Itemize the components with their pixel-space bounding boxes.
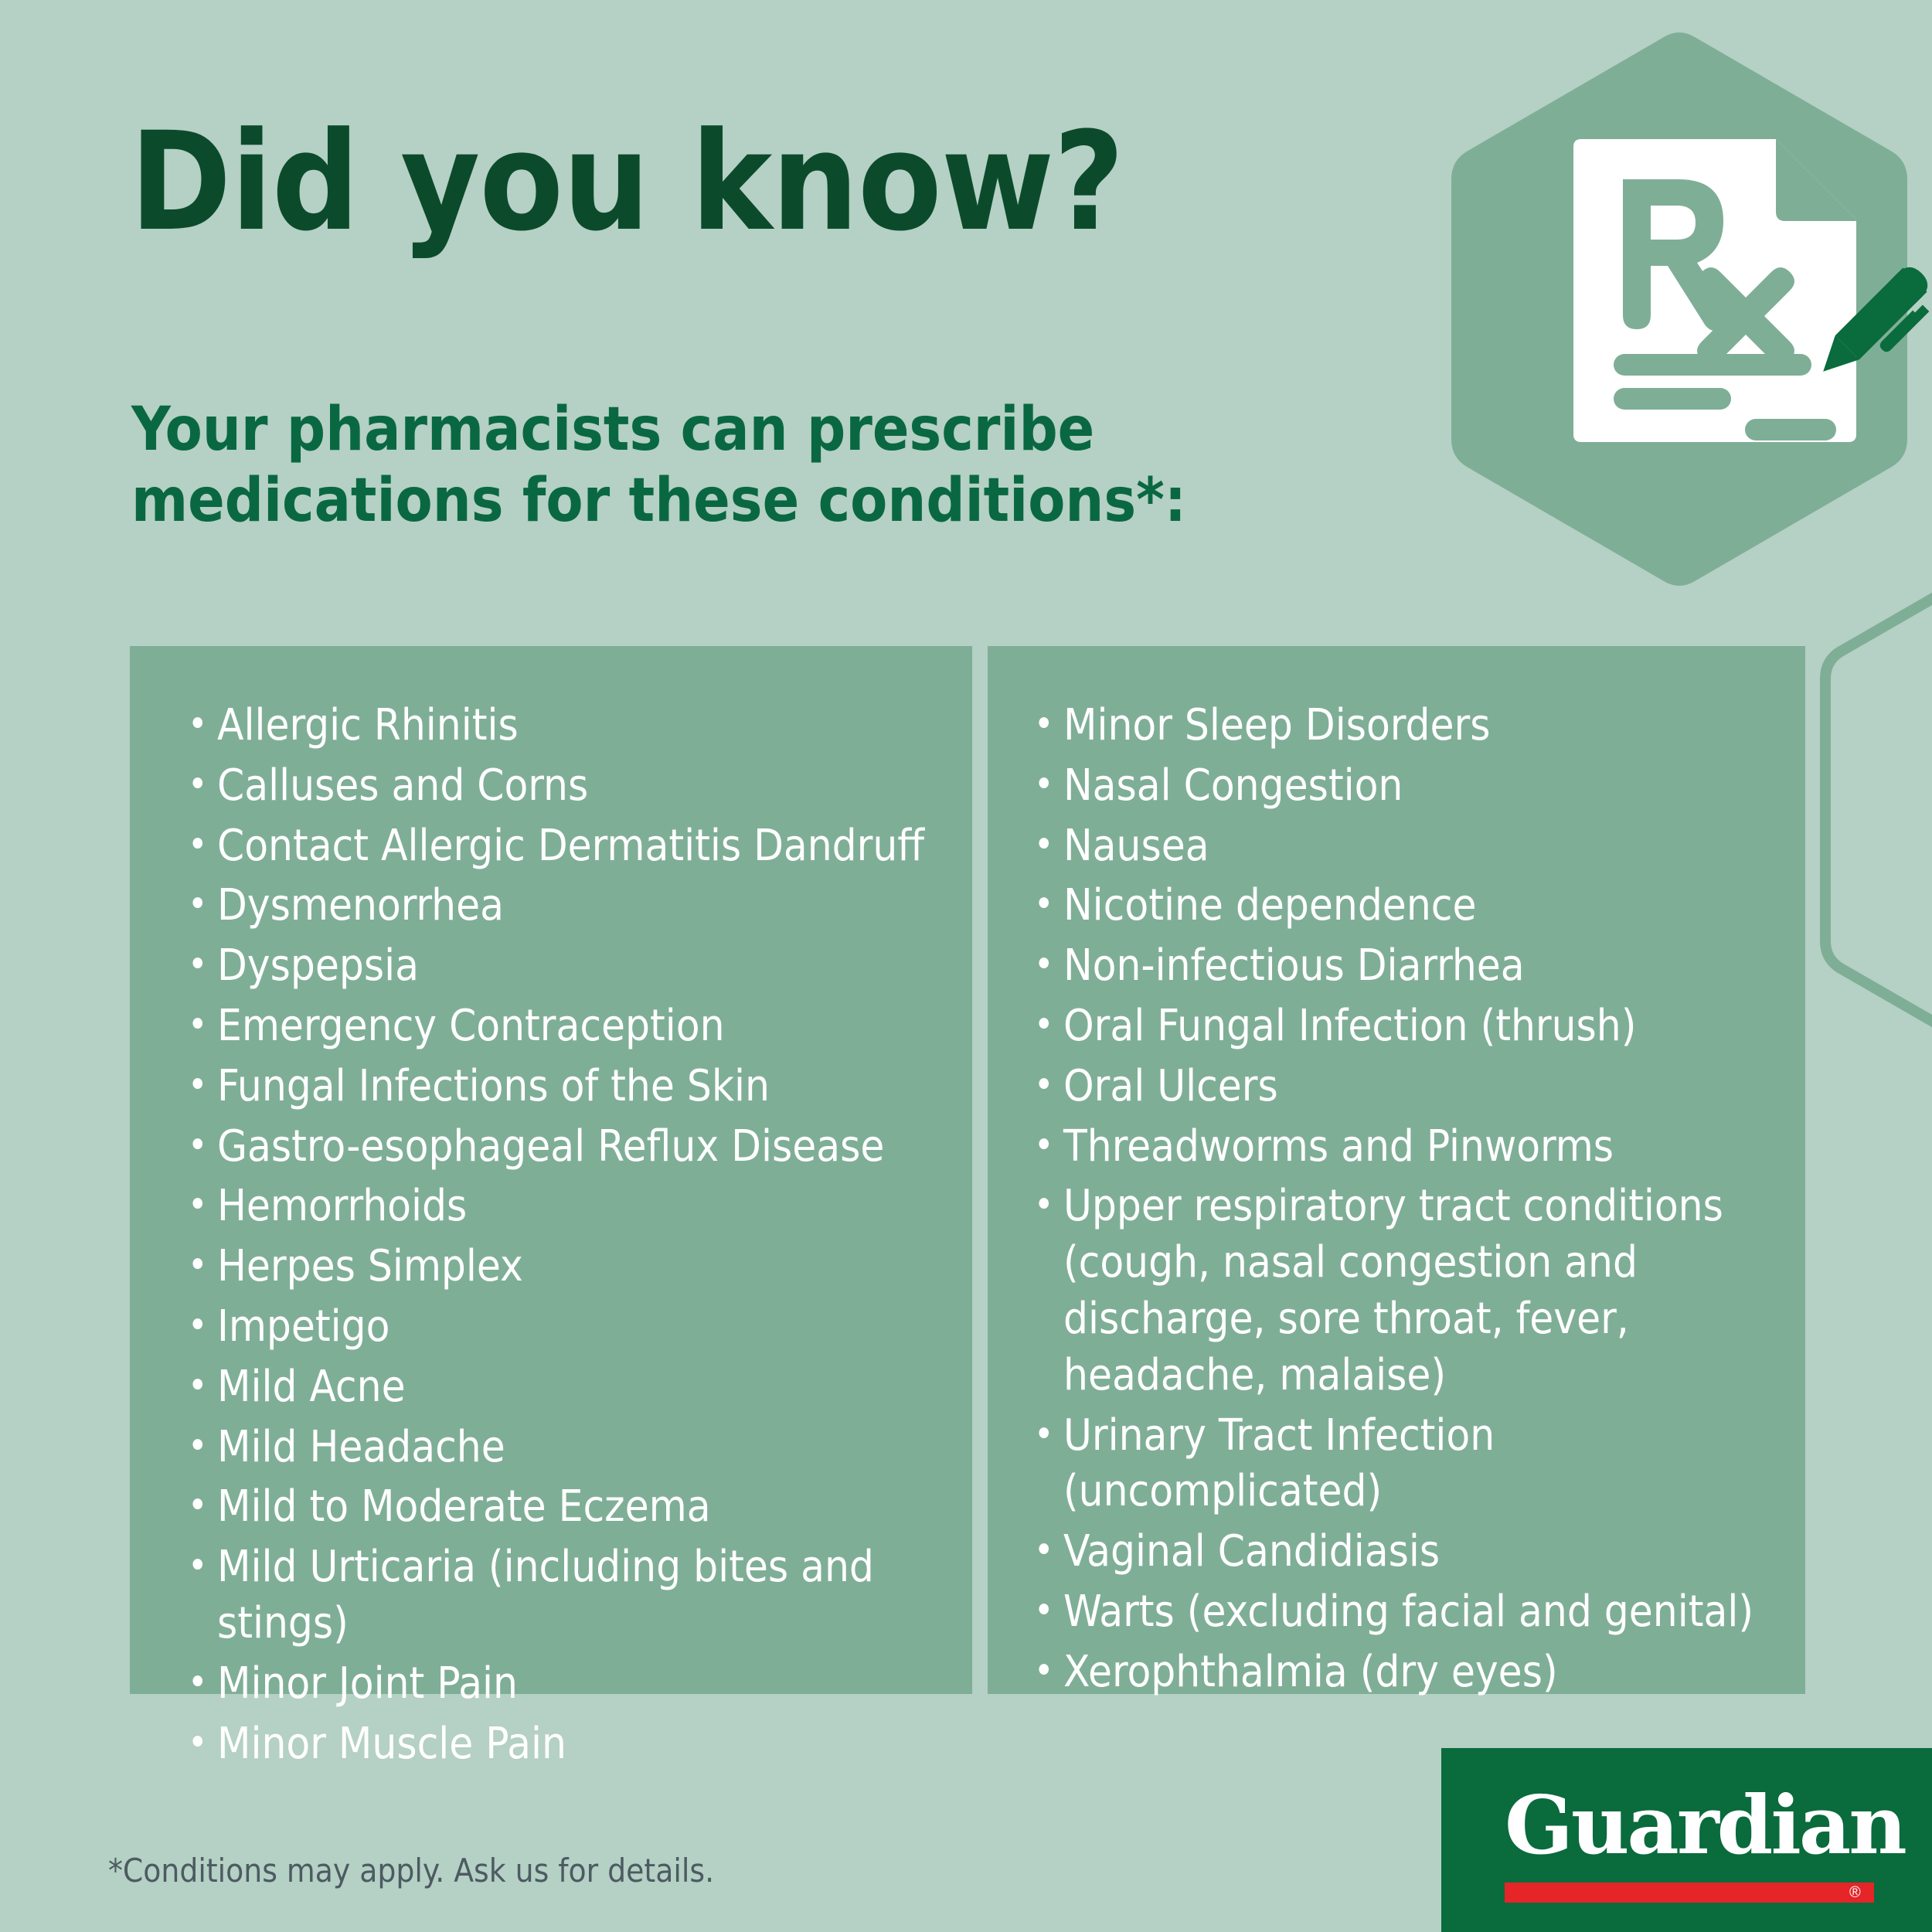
condition-list-item: Urinary Tract Infection (uncomplicated): [1034, 1408, 1790, 1521]
condition-list-item: Mild Urticaria (including bites and stin…: [188, 1539, 949, 1652]
condition-list-item: Nicotine dependence: [1034, 878, 1790, 934]
condition-list-item: Minor Joint Pain: [188, 1656, 949, 1713]
condition-list-item: Dyspepsia: [188, 938, 949, 995]
conditions-panel-left: Allergic RhinitisCalluses and CornsConta…: [130, 646, 972, 1694]
condition-list-item: Herpes Simplex: [188, 1239, 949, 1295]
condition-list-item: Warts (excluding facial and genital): [1034, 1584, 1790, 1641]
document-line-1: [1614, 354, 1811, 376]
document-line-2: [1614, 388, 1731, 410]
condition-list-item: Contact Allergic Dermatitis Dandruff: [188, 818, 949, 875]
footnote-disclaimer: *Conditions may apply. Ask us for detail…: [108, 1852, 714, 1889]
condition-list-item: Vaginal Candidiasis: [1034, 1524, 1790, 1580]
condition-list-item: Threadworms and Pinworms: [1034, 1119, 1790, 1175]
guardian-wordmark: Guardian: [1505, 1785, 1905, 1866]
condition-list-item: Hemorrhoids: [188, 1179, 949, 1235]
condition-list-item: Upper respiratory tract conditions (coug…: [1034, 1179, 1790, 1403]
document-fold: [1776, 139, 1856, 221]
hexagon-outline: [1825, 541, 1932, 1054]
condition-list-item: Nasal Congestion: [1034, 758, 1790, 815]
condition-list-item: Emergency Contraception: [188, 998, 949, 1055]
condition-list-item: Allergic Rhinitis: [188, 698, 949, 754]
conditions-list-left: Allergic RhinitisCalluses and CornsConta…: [130, 646, 972, 1772]
document-signature-line: [1745, 419, 1836, 440]
condition-list-item: Minor Muscle Pain: [188, 1716, 949, 1773]
condition-list-item: Calluses and Corns: [188, 758, 949, 815]
pen-icon: [1793, 247, 1932, 402]
condition-list-item: Oral Fungal Infection (thrush): [1034, 998, 1790, 1055]
registered-trademark-icon: ®: [1849, 1884, 1861, 1902]
condition-list-item: Mild Headache: [188, 1420, 949, 1476]
conditions-panel-right: Minor Sleep DisordersNasal CongestionNau…: [988, 646, 1805, 1694]
condition-list-item: Mild Acne: [188, 1359, 949, 1416]
condition-list-item: Non-infectious Diarrhea: [1034, 938, 1790, 995]
condition-list-item: Gastro-esophageal Reflux Disease: [188, 1119, 949, 1175]
condition-list-item: Dysmenorrhea: [188, 878, 949, 934]
condition-list-item: Oral Ulcers: [1034, 1059, 1790, 1115]
condition-list-item: Nausea: [1034, 818, 1790, 875]
guardian-red-rule: [1505, 1883, 1874, 1903]
condition-list-item: Xerophthalmia (dry eyes): [1034, 1645, 1790, 1701]
condition-list-item: Impetigo: [188, 1299, 949, 1355]
page-subtitle: Your pharmacists can prescribe medicatio…: [131, 394, 1337, 536]
guardian-logo: Guardian ®: [1441, 1748, 1932, 1932]
page-title: Did you know?: [130, 114, 1124, 250]
conditions-list-right: Minor Sleep DisordersNasal CongestionNau…: [988, 646, 1805, 1701]
condition-list-item: Mild to Moderate Eczema: [188, 1479, 949, 1536]
condition-list-item: Minor Sleep Disorders: [1034, 698, 1790, 754]
condition-list-item: Fungal Infections of the Skin: [188, 1059, 949, 1115]
